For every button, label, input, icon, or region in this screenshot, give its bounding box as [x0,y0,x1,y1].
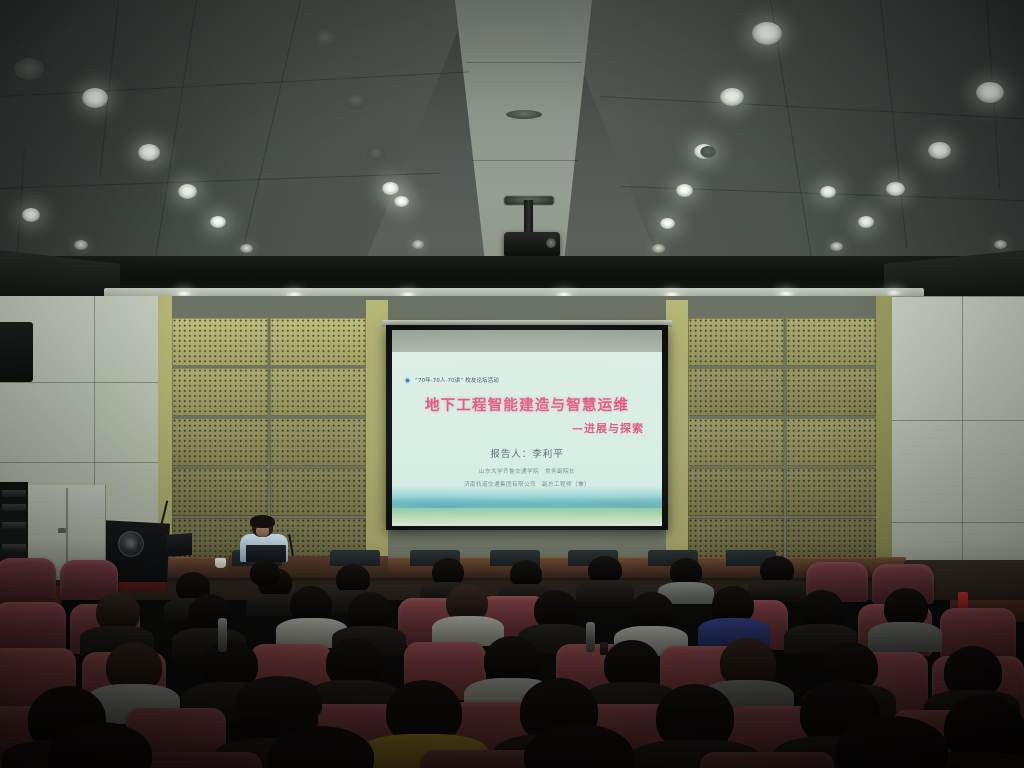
wall-strip-screen-right [666,300,688,562]
ceiling-downlight-off [344,92,368,110]
screen-gray-band [392,330,662,352]
projector-pole [524,200,533,234]
projection-screen: “70年·70人·70讲” 校友论坛活动 地下工程智能建造与智慧运维 —进展与探… [392,330,662,526]
ceiling-downlight [886,182,905,196]
seat [0,602,66,652]
ceiling-downlight [210,216,226,228]
seat [700,752,834,768]
ceiling-downlight [652,244,665,253]
ceiling-downlight [138,144,160,161]
rack-unit [2,504,26,511]
slide-affiliation-1: 山东大学齐鲁交通学院 常务副院长 [392,467,662,475]
rack-unit [2,544,26,551]
slide-logo-icon [404,377,411,384]
acoustic-panel [270,318,366,366]
audience-area [0,556,1024,768]
rack-unit [2,490,26,497]
ceiling-downlight [976,82,1004,103]
audience-shoulders [748,580,806,602]
ceiling-sprinkler-icon [506,110,542,119]
ceiling-downlight [660,218,675,229]
projector-lens-icon [546,238,556,248]
university-emblem-icon [118,531,144,557]
wall-strip-screen-left [366,300,388,562]
presentation-slide: “70年·70人·70讲” 校友论坛活动 地下工程智能建造与智慧运维 —进展与探… [392,352,662,526]
wall-seam [890,296,1024,297]
ceiling-downlight [994,240,1007,249]
audience-head [250,560,280,586]
acoustic-panel [786,468,876,516]
acoustic-panel [688,318,784,366]
valance-downlight [886,289,902,296]
ceiling-plane-left [0,0,470,300]
ceiling-downlight-off [366,146,386,161]
ceiling-downlight [22,208,40,222]
slide-header: “70年·70人·70讲” 校友论坛活动 [404,376,499,384]
wall-panel-right [890,296,1024,596]
ceiling-downlight [240,244,253,253]
wall-seam [890,420,1024,421]
ceiling-downlight [82,88,108,108]
ceiling-downlight-off [700,146,716,158]
ceiling-downlight [928,142,951,159]
water-bottle [586,622,595,652]
ceiling-downlight-off [312,28,338,48]
ceiling-downlight [74,240,88,250]
audience-shoulders [576,580,634,602]
acoustic-panel [786,368,876,416]
audience-shoulders [868,622,942,652]
ceiling-downlight [394,196,409,207]
ceiling-plane-right [554,0,1024,300]
slide-title: 地下工程智能建造与智慧运维 [392,394,662,415]
ceiling-downlight [382,182,399,195]
acoustic-panel [270,418,366,466]
ceiling-downlight [830,242,843,251]
ceiling-downlight [752,22,782,45]
cap-brim [226,710,270,715]
lectern-monitor [166,533,192,557]
ceiling-downlight [412,240,424,249]
ceiling-downlight [858,216,874,228]
water-bottle [218,618,227,652]
ceiling-downlight-off [14,58,44,80]
auditorium-photo: “70年·70人·70讲” 校友论坛活动 地下工程智能建造与智慧运维 —进展与探… [0,0,1024,768]
wall-trim-right [876,296,892,596]
acoustic-panel [172,418,268,466]
acoustic-panel [172,468,268,516]
smartphone [600,642,608,655]
acoustic-panel [688,418,784,466]
wall-seam [890,522,1024,523]
wall-loudspeaker [0,322,33,382]
acoustic-panel [172,318,268,366]
slide-presenter: 报告人：李利平 [392,446,662,460]
acoustic-panel [688,368,784,416]
soffit-seam [466,62,582,63]
cabinet-handle [58,528,66,533]
acoustic-panel [786,418,876,466]
acoustic-panel [688,468,784,516]
baseball-cap [236,676,322,722]
slide-subtitle: —进展与探索 [572,420,644,436]
rack-unit [2,522,26,529]
wall-seam [0,462,158,463]
wall-seam [0,382,158,383]
presenter-hair [250,515,275,528]
slide-header-text: “70年·70人·70讲” 校友论坛活动 [415,376,499,384]
acoustic-panel [172,368,268,416]
seat [0,558,56,598]
landscape-ridge [392,490,662,508]
slide-landscape-graphic [392,486,662,526]
ceiling-downlight [676,184,693,197]
acoustic-panel [270,368,366,416]
wall-seam [962,296,963,596]
ceiling-downlight [178,184,197,199]
acoustic-panel [270,468,366,516]
soffit-seam [472,160,578,161]
ceiling-downlight [820,186,836,198]
wall-seam [94,296,95,496]
ceiling [0,0,1024,300]
ceiling-downlight [720,88,744,106]
acoustic-panel [786,318,876,366]
